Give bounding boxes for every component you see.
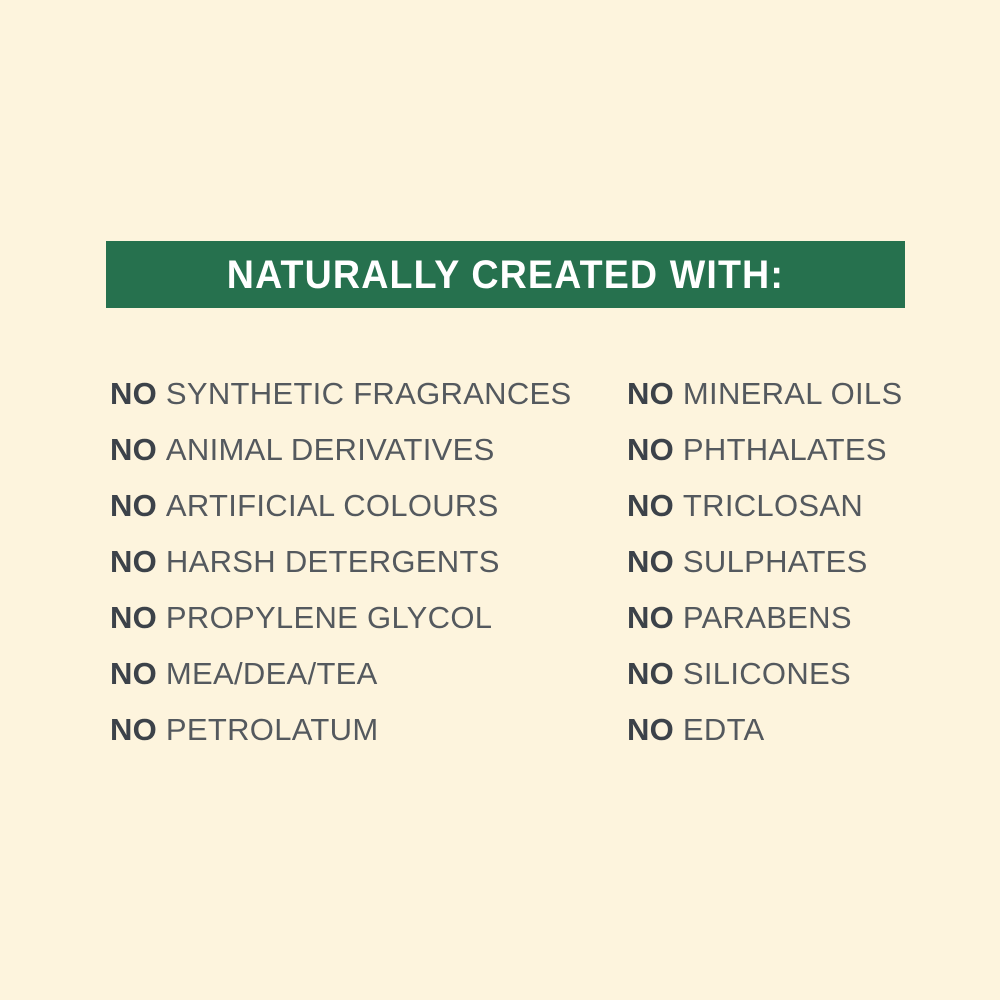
list-item-label: PETROLATUM: [166, 712, 379, 747]
list-item-label: EDTA: [683, 712, 765, 747]
list-item: NOPETROLATUM: [110, 702, 610, 758]
list-item-prefix: NO: [110, 544, 157, 579]
list-item: NOARTIFICIAL COLOURS: [110, 478, 610, 534]
list-item-label: TRICLOSAN: [683, 488, 863, 523]
list-item-label: SILICONES: [683, 656, 851, 691]
banner-naturally-created-with: NATURALLY CREATED WITH:: [106, 241, 905, 308]
list-item: NOPROPYLENE GLYCOL: [110, 590, 610, 646]
exclusion-list-right-column: NOMINERAL OILSNOPHTHALATESNOTRICLOSANNOS…: [627, 366, 987, 758]
ingredient-claims-poster: NATURALLY CREATED WITH: NOSYNTHETIC FRAG…: [0, 0, 1000, 1000]
exclusion-list: NOSYNTHETIC FRAGRANCESNOANIMAL DERIVATIV…: [0, 366, 1000, 766]
list-item-label: ANIMAL DERIVATIVES: [166, 432, 495, 467]
list-item: NOSYNTHETIC FRAGRANCES: [110, 366, 610, 422]
list-item-prefix: NO: [627, 656, 674, 691]
list-item-prefix: NO: [627, 432, 674, 467]
list-item-prefix: NO: [627, 376, 674, 411]
list-item: NOMEA/DEA/TEA: [110, 646, 610, 702]
list-item: NOEDTA: [627, 702, 987, 758]
list-item: NOSULPHATES: [627, 534, 987, 590]
list-item-prefix: NO: [627, 544, 674, 579]
list-item-prefix: NO: [110, 656, 157, 691]
list-item-prefix: NO: [627, 488, 674, 523]
list-item-prefix: NO: [110, 488, 157, 523]
list-item-prefix: NO: [110, 376, 157, 411]
list-item-label: SULPHATES: [683, 544, 868, 579]
list-item-label: HARSH DETERGENTS: [166, 544, 500, 579]
banner-title: NATURALLY CREATED WITH:: [227, 255, 784, 295]
list-item-label: SYNTHETIC FRAGRANCES: [166, 376, 572, 411]
list-item: NOMINERAL OILS: [627, 366, 987, 422]
list-item-label: PROPYLENE GLYCOL: [166, 600, 492, 635]
list-item-label: PHTHALATES: [683, 432, 887, 467]
list-item-label: MINERAL OILS: [683, 376, 903, 411]
list-item-prefix: NO: [110, 600, 157, 635]
exclusion-list-left-column: NOSYNTHETIC FRAGRANCESNOANIMAL DERIVATIV…: [110, 366, 610, 758]
list-item: NOTRICLOSAN: [627, 478, 987, 534]
list-item-prefix: NO: [627, 712, 674, 747]
list-item-label: PARABENS: [683, 600, 852, 635]
list-item: NOPARABENS: [627, 590, 987, 646]
list-item: NOANIMAL DERIVATIVES: [110, 422, 610, 478]
list-item-label: MEA/DEA/TEA: [166, 656, 378, 691]
list-item: NOPHTHALATES: [627, 422, 987, 478]
list-item: NOHARSH DETERGENTS: [110, 534, 610, 590]
list-item-prefix: NO: [110, 712, 157, 747]
list-item-prefix: NO: [627, 600, 674, 635]
list-item-label: ARTIFICIAL COLOURS: [166, 488, 499, 523]
list-item: NOSILICONES: [627, 646, 987, 702]
list-item-prefix: NO: [110, 432, 157, 467]
